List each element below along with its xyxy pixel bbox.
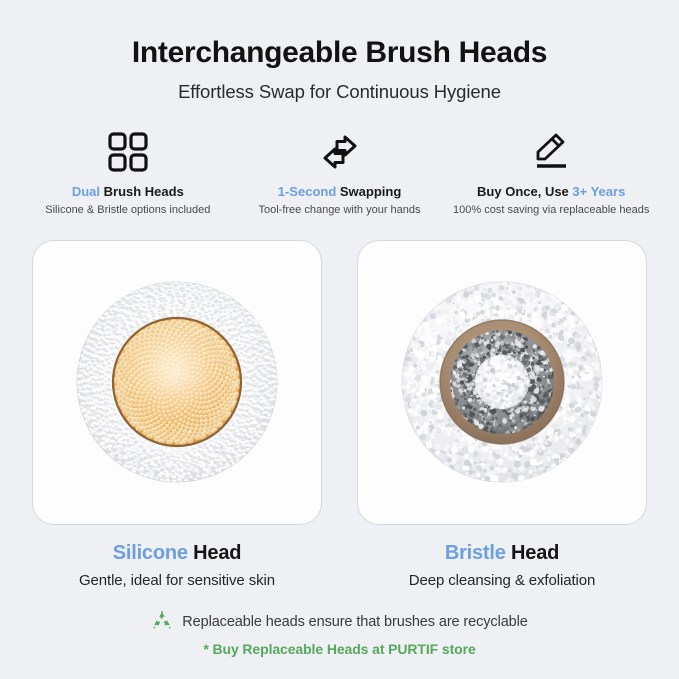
feature-title: Buy Once, Use 3+ Years: [449, 184, 653, 200]
feature-buy-once-use-years: Buy Once, Use 3+ Years 100% cost saving …: [445, 129, 657, 218]
feature-title-rest: Swapping: [336, 184, 401, 199]
product-card-row: [0, 240, 679, 525]
infographic-page: Interchangeable Brush Heads Effortless S…: [0, 0, 679, 679]
page-title: Interchangeable Brush Heads: [0, 36, 679, 71]
caption-title-highlight: Silicone: [113, 542, 188, 564]
caption-description: Deep cleansing & exfoliation: [357, 572, 647, 589]
pen-underline-icon: [449, 129, 653, 175]
caption-title: Silicone Head: [32, 542, 322, 565]
feature-title-highlight: Dual: [72, 184, 100, 199]
caption-row: Silicone Head Gentle, ideal for sensitiv…: [0, 542, 679, 589]
feature-title-highlight: 3+ Years: [572, 184, 625, 199]
caption-title-rest: Head: [506, 542, 559, 564]
feature-title-rest: Buy Once, Use: [477, 184, 572, 199]
feature-description: Tool-free change with your hands: [238, 204, 442, 218]
feature-title: Dual Brush Heads: [26, 184, 230, 200]
card-bristle-head[interactable]: [357, 240, 647, 525]
swap-arrows-icon: [238, 129, 442, 175]
caption-bristle-head: Bristle Head Deep cleansing & exfoliatio…: [357, 542, 647, 589]
header: Interchangeable Brush Heads Effortless S…: [0, 0, 679, 103]
bristle-brush-head-photo: [388, 268, 616, 496]
feature-row: Dual Brush Heads Silicone & Bristle opti…: [0, 129, 679, 218]
caption-silicone-head: Silicone Head Gentle, ideal for sensitiv…: [32, 542, 322, 589]
feature-description: Silicone & Bristle options included: [26, 204, 230, 218]
feature-title: 1-Second Swapping: [238, 184, 442, 200]
feature-title-highlight: 1-Second: [278, 184, 337, 199]
silicone-brush-head-photo: [63, 268, 291, 496]
footer: Replaceable heads ensure that brushes ar…: [0, 609, 679, 657]
recycle-icon: [151, 609, 173, 636]
footer-note: Replaceable heads ensure that brushes ar…: [182, 614, 527, 630]
feature-dual-brush-heads: Dual Brush Heads Silicone & Bristle opti…: [22, 129, 234, 218]
footer-cta[interactable]: * Buy Replaceable Heads at PURTIF store: [0, 641, 679, 657]
page-subtitle: Effortless Swap for Continuous Hygiene: [0, 81, 679, 103]
feature-title-rest: Brush Heads: [100, 184, 184, 199]
grid-2x2-icon: [26, 129, 230, 175]
caption-title-highlight: Bristle: [445, 542, 506, 564]
feature-one-second-swapping: 1-Second Swapping Tool-free change with …: [234, 129, 446, 218]
card-silicone-head[interactable]: [32, 240, 322, 525]
feature-description: 100% cost saving via replaceable heads: [449, 204, 653, 218]
footer-note-row: Replaceable heads ensure that brushes ar…: [0, 609, 679, 636]
caption-title-rest: Head: [188, 542, 241, 564]
caption-title: Bristle Head: [357, 542, 647, 565]
caption-description: Gentle, ideal for sensitive skin: [32, 572, 322, 589]
